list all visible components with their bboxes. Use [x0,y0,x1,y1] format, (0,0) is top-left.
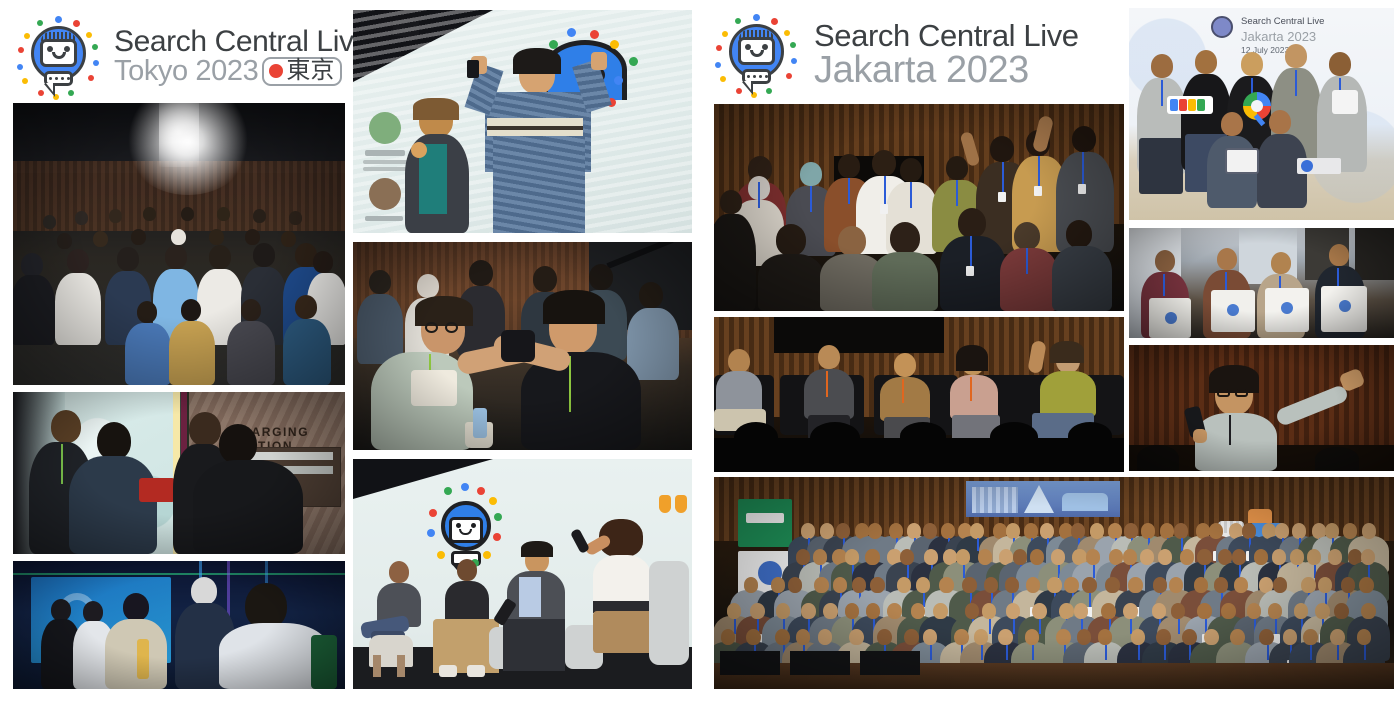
search-central-bot-logo [14,14,102,98]
collage-canvas: Search Central Live Tokyo 2023 東京 [0,0,1400,704]
japan-badge: 東京 [262,57,342,86]
tokyo-logo-city: Tokyo 2023 [114,57,258,86]
jakarta-audience-question[interactable] [1129,345,1394,471]
jakarta-panel-discussion[interactable] [714,317,1124,472]
tokyo-award-handover[interactable]: CHARGING STATION [13,392,345,554]
tokyo-logo-lockup: Search Central Live Tokyo 2023 東京 [14,14,370,98]
japan-badge-kanji: 東京 [286,59,334,83]
tokyo-networking-drinks[interactable] [13,561,345,689]
tokyo-attendees-heart-hands[interactable] [353,242,692,450]
jakarta-logo-lockup: Search Central Live Jakarta 2023 [712,12,1079,96]
jakarta-audience-waving[interactable] [714,104,1124,311]
japan-flag-dot-icon [269,64,283,78]
jakarta-logo-city: Jakarta 2023 [814,51,1029,89]
tokyo-audience-group-photo[interactable] [13,103,345,385]
jakarta-logo-title: Search Central Live [814,20,1079,51]
tokyo-stage-yukata-speaker[interactable] [353,10,692,233]
jakarta-swag-bags[interactable] [1129,228,1394,338]
search-central-bot-logo [712,12,800,96]
booth-backdrop-title1: Search Central Live [1241,16,1324,27]
jakarta-full-group-photo[interactable] [714,477,1394,689]
tokyo-panel-discussion[interactable] [353,459,692,689]
booth-backdrop-title2: Jakarta 2023 [1241,29,1316,44]
jakarta-photo-booth-group[interactable]: Search Central Live Jakarta 2023 12 July… [1129,8,1394,220]
tokyo-logo-title: Search Central Live [114,27,370,57]
